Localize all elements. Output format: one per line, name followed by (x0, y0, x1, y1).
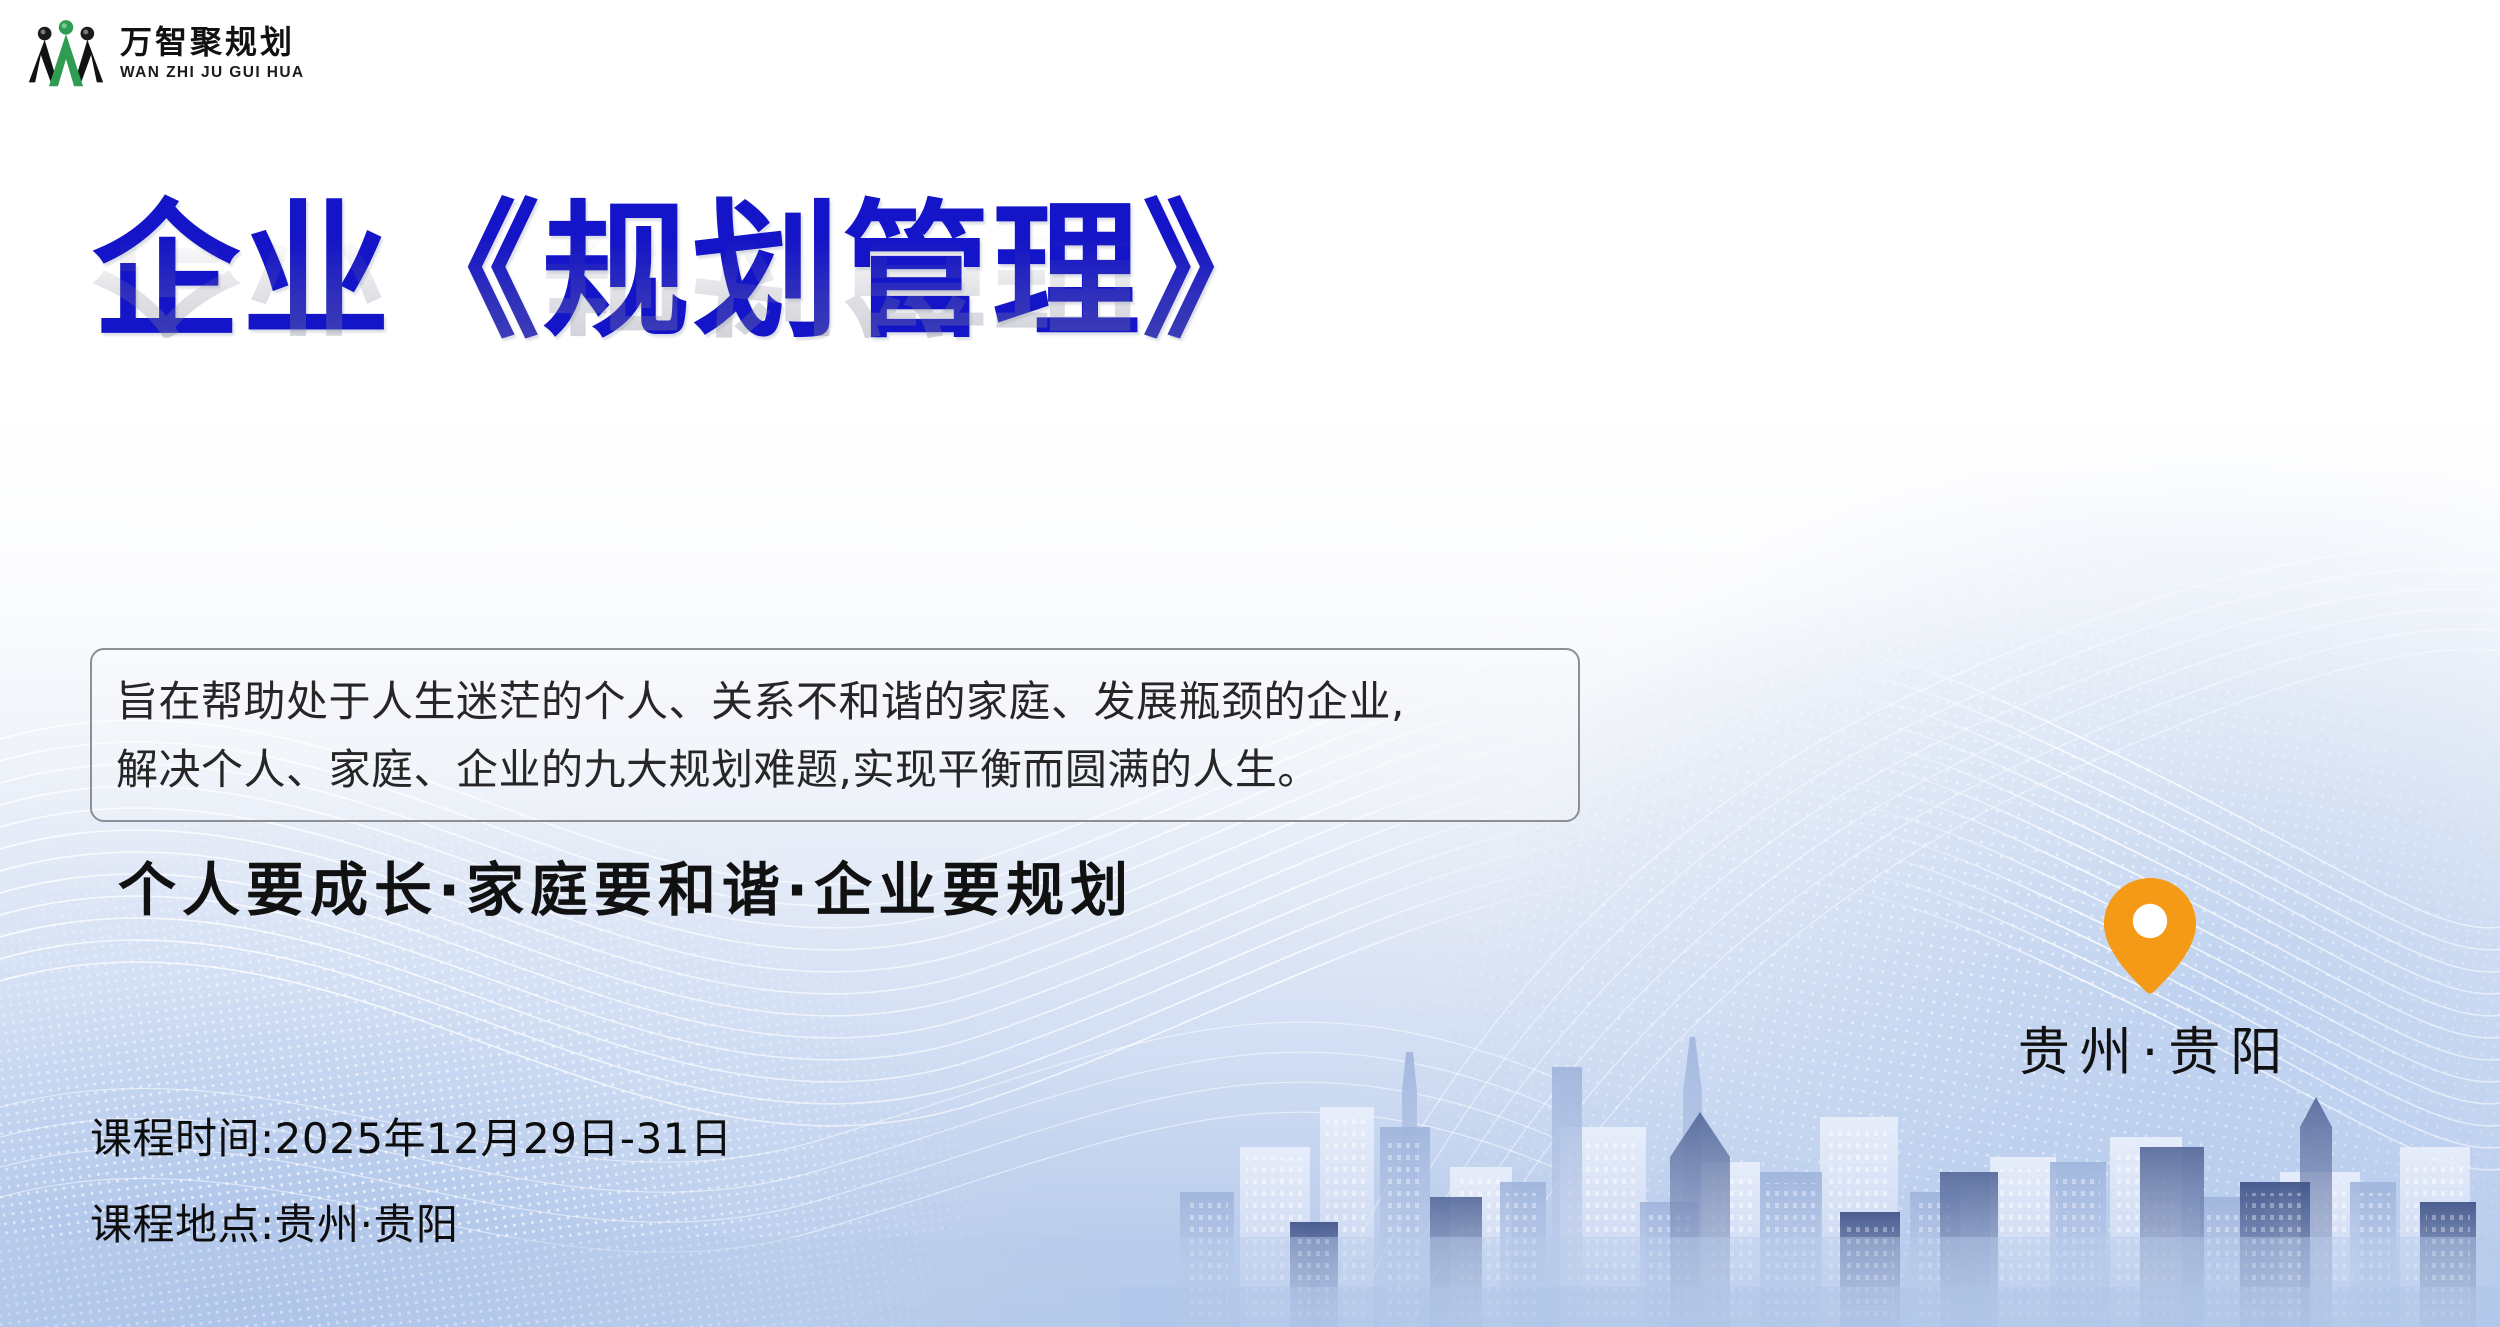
hero-title-block: 企业《规划管理》 企业《规划管理》 (92, 196, 1292, 450)
brand-name-cn: 万智聚规划 (120, 26, 305, 58)
description-line-1: 旨在帮助处于人生迷茫的个人、关系不和谐的家庭、发展瓶颈的企业, (116, 668, 1556, 736)
page-title-reflection: 企业《规划管理》 (92, 226, 1292, 338)
course-time: 课程时间:2025年12月29日-31日 (90, 1118, 733, 1160)
promotional-poster: 万智聚规划 WAN ZHI JU GUI HUA 企业《规划管理》 企业《规划管… (0, 0, 2500, 1327)
course-info: 课程时间:2025年12月29日-31日 课程地点:贵州·贵阳 (90, 1118, 733, 1246)
map-pin-icon (2102, 876, 2198, 996)
location-block: 贵州·贵阳 (1960, 876, 2340, 1085)
brand-logo-text: 万智聚规划 WAN ZHI JU GUI HUA (120, 26, 305, 81)
description-line-2: 解决个人、家庭、企业的九大规划难题,实现平衡而圆满的人生。 (116, 736, 1556, 804)
brand-name-en: WAN ZHI JU GUI HUA (120, 65, 305, 81)
three-people-logo-icon (28, 16, 104, 90)
description-box: 旨在帮助处于人生迷茫的个人、关系不和谐的家庭、发展瓶颈的企业, 解决个人、家庭、… (90, 648, 1580, 822)
course-place: 课程地点:贵州·贵阳 (90, 1204, 733, 1246)
tagline: 个人要成长·家庭要和谐·企业要规划 (118, 843, 1134, 927)
brand-logo: 万智聚规划 WAN ZHI JU GUI HUA (28, 16, 305, 90)
location-city: 贵州·贵阳 (1960, 1010, 2340, 1085)
